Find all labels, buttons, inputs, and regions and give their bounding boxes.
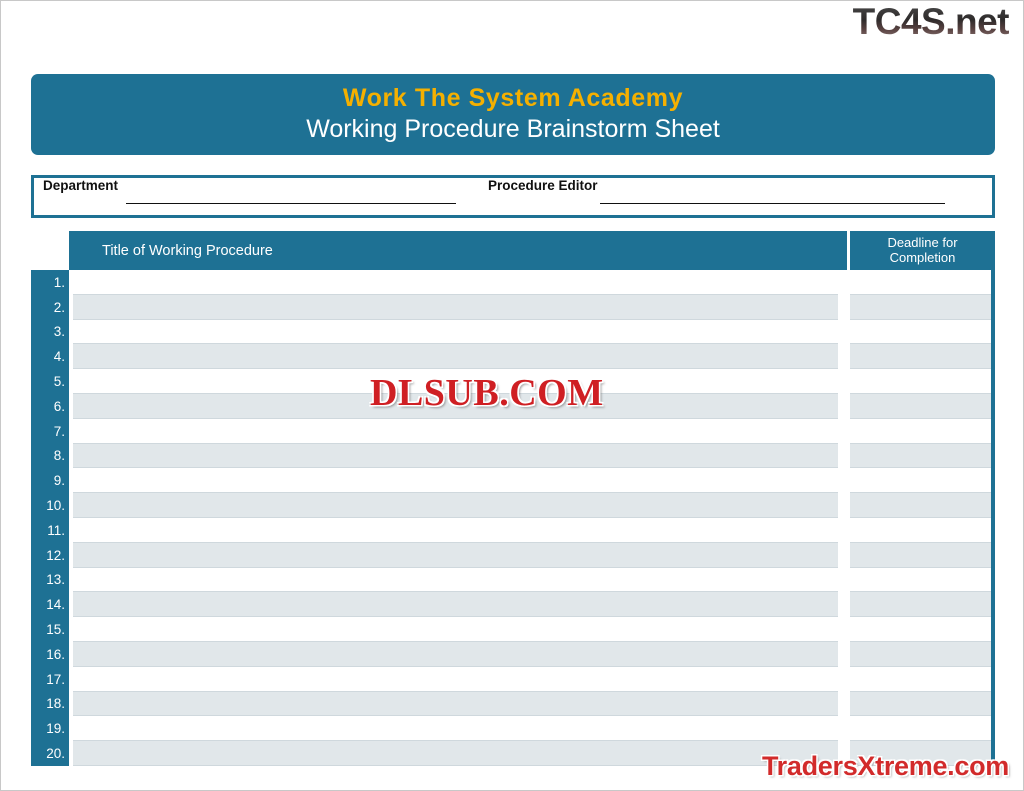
row-number: 20. [31,741,69,766]
procedure-table: Title of Working Procedure Deadline for … [31,231,995,766]
column-header-deadline-line2: Completion [890,251,956,266]
meta-strip: Department Procedure Editor [31,175,995,218]
table-row: 2. [31,295,995,320]
row-number: 1. [31,270,69,295]
academy-title: Work The System Academy [343,85,683,113]
table-row: 6. [31,394,995,419]
cell-divider [838,444,850,469]
table-row: 4. [31,344,995,369]
row-number: 18. [31,692,69,717]
procedure-title-cell[interactable] [73,518,838,543]
row-number: 11. [31,518,69,543]
row-number: 6. [31,394,69,419]
deadline-cell[interactable] [850,543,991,568]
column-header-deadline-line1: Deadline for [887,236,957,251]
table-row: 13. [31,568,995,593]
cell-divider [838,369,850,394]
row-number: 2. [31,295,69,320]
table-row: 17. [31,667,995,692]
procedure-title-cell[interactable] [73,692,838,717]
cell-divider [838,295,850,320]
table-row: 18. [31,692,995,717]
deadline-cell[interactable] [850,444,991,469]
deadline-cell[interactable] [850,642,991,667]
row-number: 19. [31,716,69,741]
procedure-editor-input[interactable] [600,202,945,204]
table-row: 1. [31,270,995,295]
cell-divider [838,692,850,717]
deadline-cell[interactable] [850,344,991,369]
column-header-title: Title of Working Procedure [69,231,847,270]
cell-divider [838,543,850,568]
deadline-cell[interactable] [850,493,991,518]
procedure-title-cell[interactable] [73,741,838,766]
cell-divider [838,716,850,741]
cell-divider [838,344,850,369]
table-header-row: Title of Working Procedure Deadline for … [69,231,995,270]
sheet-subtitle: Working Procedure Brainstorm Sheet [306,115,720,144]
cell-divider [838,320,850,345]
tc4s-logo: TC4S.net [853,3,1009,40]
deadline-cell[interactable] [850,617,991,642]
table-row: 10. [31,493,995,518]
deadline-cell[interactable] [850,270,991,295]
procedure-title-cell[interactable] [73,320,838,345]
procedure-title-cell[interactable] [73,568,838,593]
cell-divider [838,568,850,593]
cell-divider [838,592,850,617]
row-number: 10. [31,493,69,518]
department-label: Department [43,178,118,193]
cell-divider [838,419,850,444]
procedure-title-cell[interactable] [73,617,838,642]
cell-divider [838,617,850,642]
cell-divider [838,741,850,766]
table-row: 12. [31,543,995,568]
table-row: 11. [31,518,995,543]
row-number: 13. [31,568,69,593]
worksheet-page: TC4S.net Work The System Academy Working… [0,0,1024,791]
department-field: Department [43,178,456,215]
table-row: 20. [31,741,995,766]
procedure-title-cell[interactable] [73,270,838,295]
deadline-cell[interactable] [850,320,991,345]
row-number: 12. [31,543,69,568]
deadline-cell[interactable] [850,568,991,593]
deadline-cell[interactable] [850,394,991,419]
row-number: 7. [31,419,69,444]
deadline-cell[interactable] [850,741,991,766]
procedure-title-cell[interactable] [73,667,838,692]
table-row: 16. [31,642,995,667]
deadline-cell[interactable] [850,716,991,741]
table-row: 5. [31,369,995,394]
procedure-editor-field: Procedure Editor [488,178,945,215]
procedure-title-cell[interactable] [73,468,838,493]
cell-divider [838,667,850,692]
table-row: 3. [31,320,995,345]
procedure-title-cell[interactable] [73,369,838,394]
row-number: 15. [31,617,69,642]
procedure-editor-label: Procedure Editor [488,178,598,193]
procedure-title-cell[interactable] [73,394,838,419]
procedure-title-cell[interactable] [73,716,838,741]
deadline-cell[interactable] [850,419,991,444]
column-header-deadline: Deadline for Completion [850,231,995,270]
cell-divider [838,642,850,667]
row-number: 14. [31,592,69,617]
procedure-title-cell[interactable] [73,444,838,469]
deadline-cell[interactable] [850,592,991,617]
table-row: 15. [31,617,995,642]
cell-divider [838,493,850,518]
row-number: 17. [31,667,69,692]
deadline-cell[interactable] [850,667,991,692]
row-number: 5. [31,369,69,394]
title-banner: Work The System Academy Working Procedur… [31,74,995,155]
department-input[interactable] [126,202,456,204]
deadline-cell[interactable] [850,518,991,543]
row-number: 4. [31,344,69,369]
row-number: 3. [31,320,69,345]
procedure-title-cell[interactable] [73,592,838,617]
procedure-title-cell[interactable] [73,543,838,568]
table-row: 7. [31,419,995,444]
table-row: 14. [31,592,995,617]
procedure-title-cell[interactable] [73,493,838,518]
table-row: 8. [31,444,995,469]
cell-divider [838,518,850,543]
procedure-title-cell[interactable] [73,642,838,667]
cell-divider [838,270,850,295]
cell-divider [838,394,850,419]
deadline-cell[interactable] [850,468,991,493]
row-number: 16. [31,642,69,667]
deadline-cell[interactable] [850,295,991,320]
table-row: 9. [31,468,995,493]
procedure-title-cell[interactable] [73,344,838,369]
deadline-cell[interactable] [850,369,991,394]
table-body: 1.2.3.4.5.6.7.8.9.10.11.12.13.14.15.16.1… [31,270,995,766]
cell-divider [838,468,850,493]
procedure-title-cell[interactable] [73,419,838,444]
deadline-cell[interactable] [850,692,991,717]
row-number: 9. [31,468,69,493]
row-number: 8. [31,444,69,469]
table-row: 19. [31,716,995,741]
procedure-title-cell[interactable] [73,295,838,320]
